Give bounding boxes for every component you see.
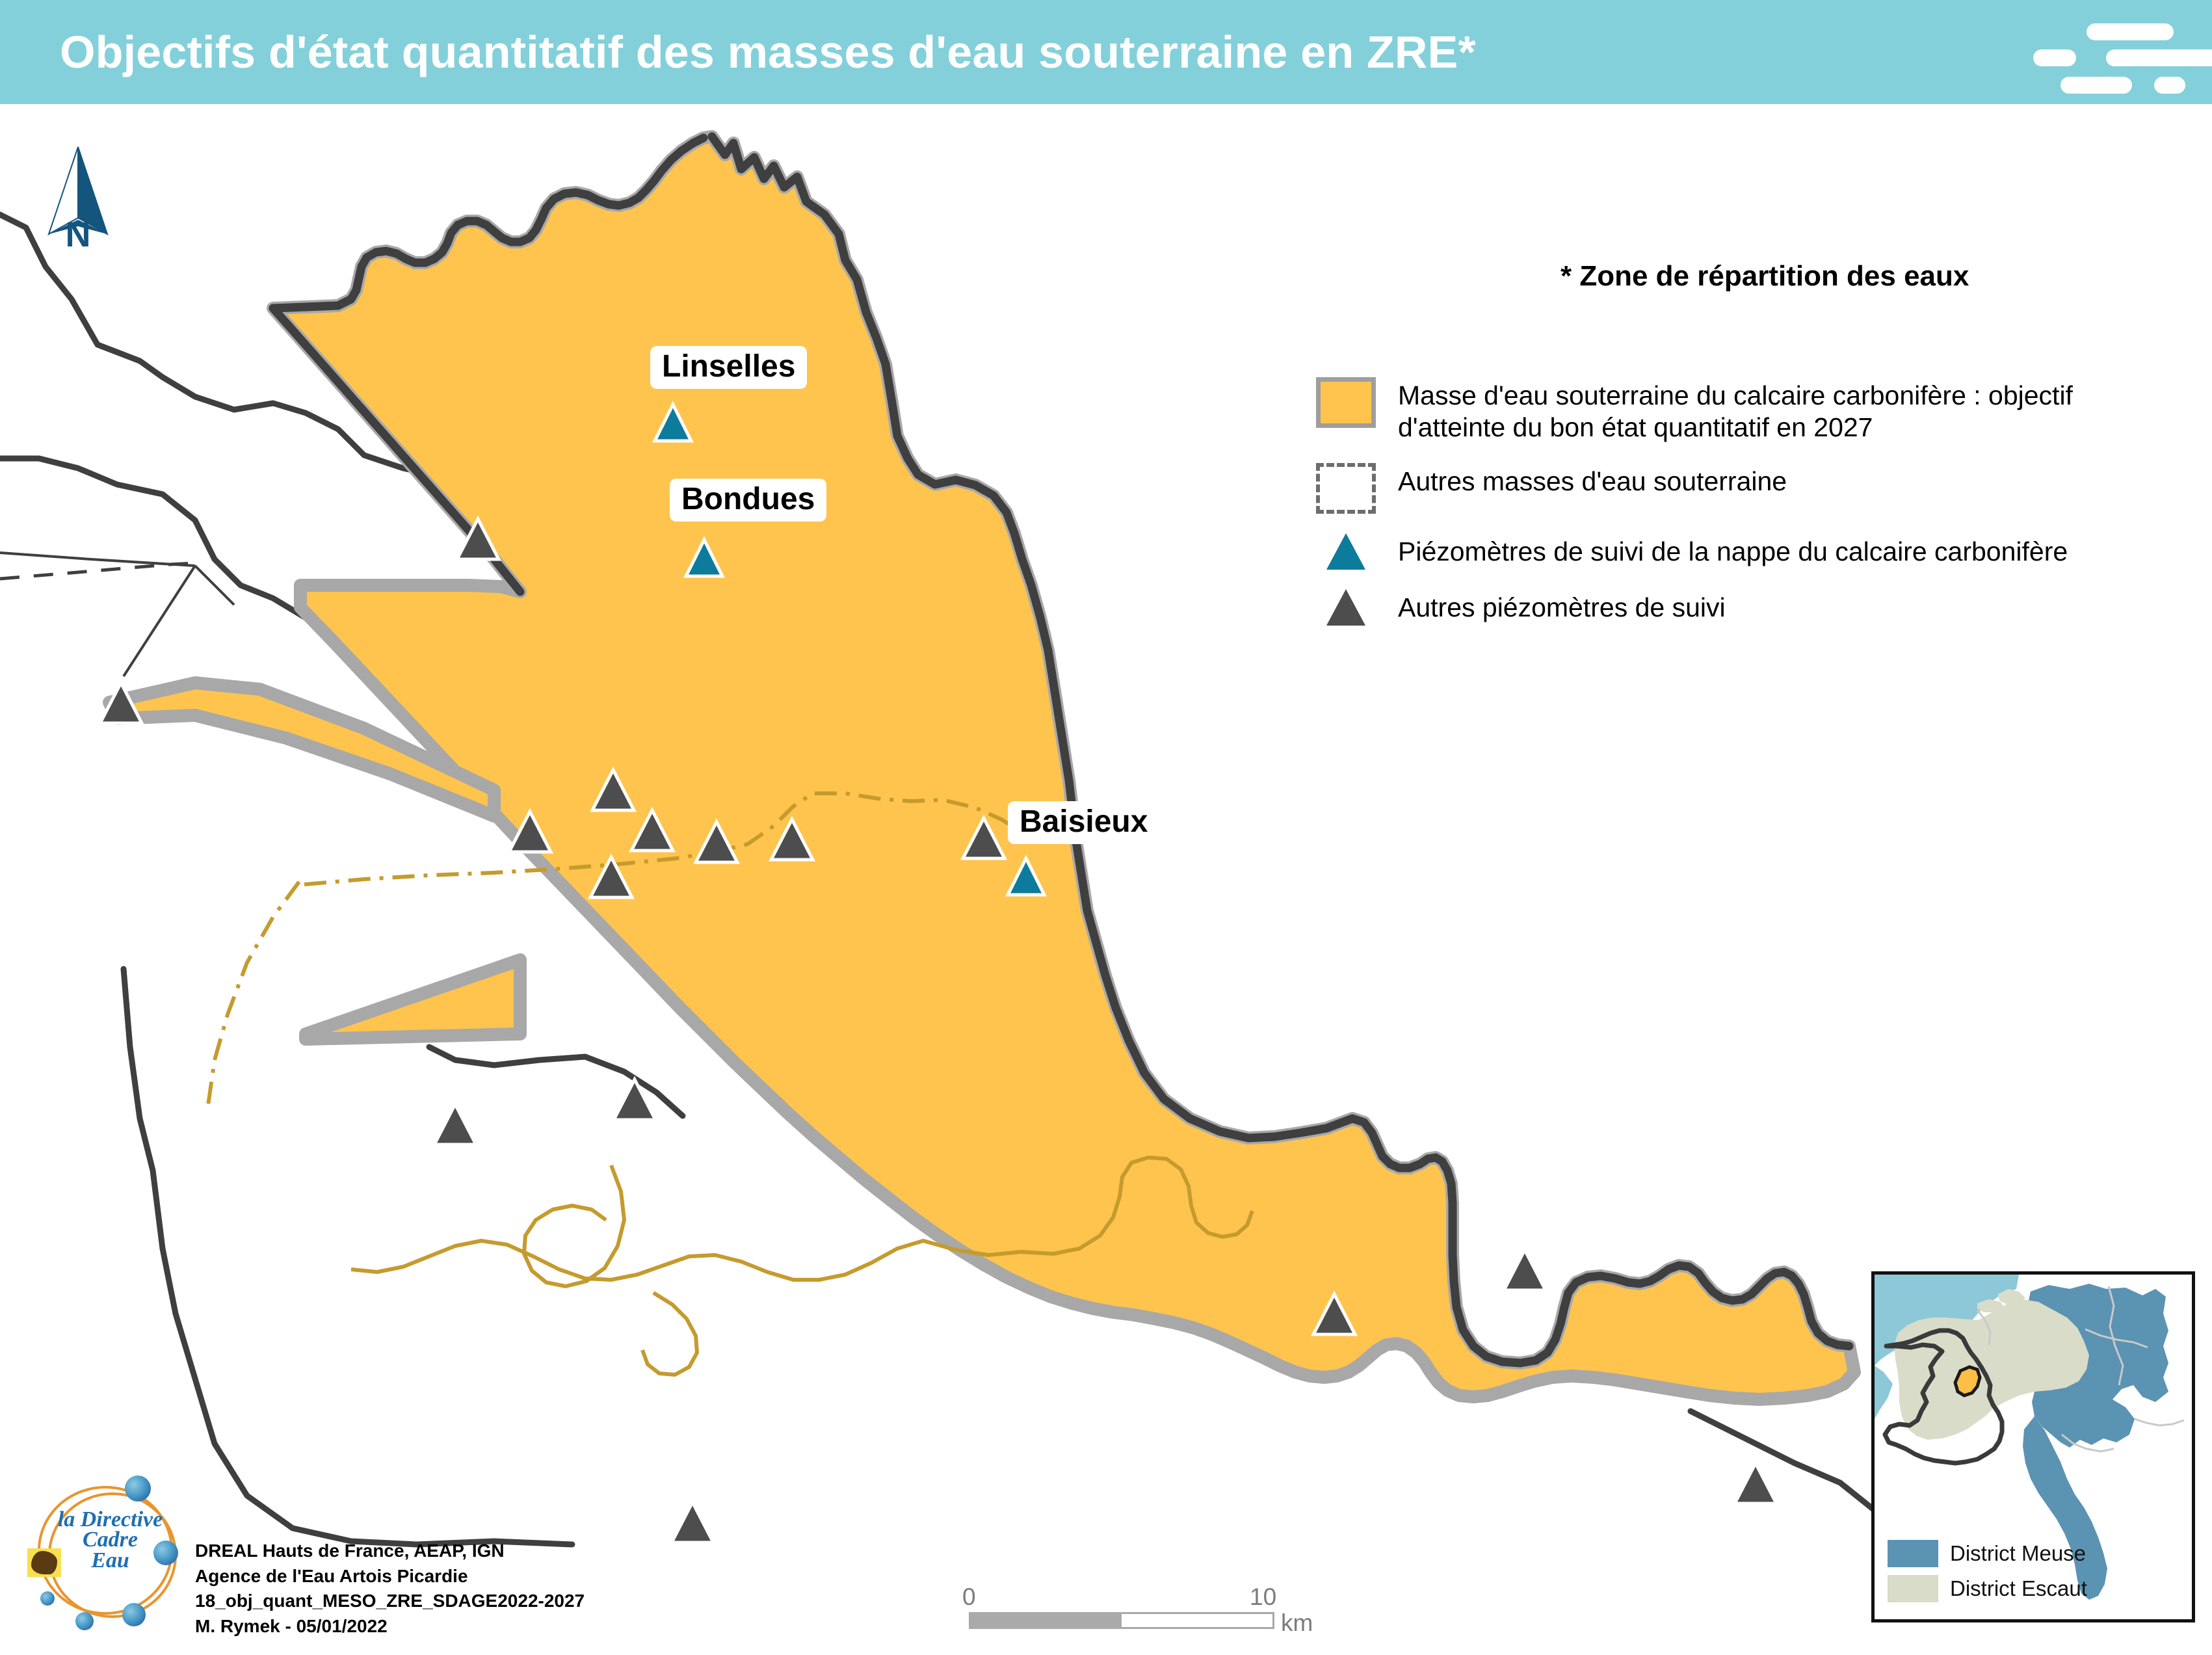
logo-wordmark-line-2: Cadre [40,1529,180,1550]
inset-legend-item-meuse: District Meuse [1888,1540,2087,1567]
piezometer-other[interactable] [1504,1250,1546,1290]
city-label-linselles: Linselles [650,346,807,389]
leader-lines [0,553,234,676]
zre-southwest-wedge [306,960,520,1039]
inset-legend-label: District Meuse [1950,1541,2086,1566]
scale-max-label: 10 [1250,1583,1276,1611]
credits-line-2: Agence de l'Eau Artois Picardie [195,1564,585,1589]
piezometer-other[interactable] [434,1104,476,1145]
blue-triangle-icon [1294,533,1398,570]
city-label-baisieux: Baisieux [1008,801,1159,844]
inset-locator-map[interactable]: District Meuse District Escaut [1871,1271,2195,1622]
inset-sea-lower [1875,1366,1893,1419]
logo-wordmark-line-1: la Directive [40,1509,180,1529]
page-header: Objectifs d'état quantitatif des masses … [0,0,2212,104]
piezometer-other[interactable] [672,1502,713,1542]
inset-legend-item-escaut: District Escaut [1888,1575,2087,1602]
piezometer-other[interactable] [1735,1463,1776,1503]
legend-label: Piézomètres de suivi de la nappe du calc… [1398,533,2068,568]
legend-item-piezometer-other: Autres piézomètres de suivi [1294,589,2074,626]
legend-item-zre-mass: Masse d'eau souterraine du calcaire carb… [1294,377,2074,444]
logo-wordmark: la Directive Cadre Eau [40,1509,180,1570]
credits-line-3: 18_obj_quant_MESO_ZRE_SDAGE2022-2027 [195,1589,585,1614]
legend-label: Autres piézomètres de suivi [1398,589,1726,624]
scale-bar-fill [969,1612,1122,1629]
page-title: Objectifs d'état quantitatif des masses … [60,17,1476,87]
scale-unit-label: km [1281,1609,1313,1637]
legend-item-other-mass: Autres masses d'eau souterraine [1294,463,2074,514]
map-legend: Masse d'eau souterraine du calcaire carb… [1294,377,2074,645]
logo-bubble-icon [125,1476,151,1502]
logo-bubble-icon [122,1603,146,1626]
credits-line-4: M. Rymek - 05/01/2022 [195,1614,585,1639]
other-mass-dashed-line [0,563,195,579]
water-flow-dashes-logo [2033,22,2176,82]
map-canvas[interactable]: N * Zone de répartition des eaux Masse d… [0,104,2212,1554]
zre-footnote: * Zone de répartition des eaux [1560,260,1969,293]
dash-dot-square-swatch-icon [1294,463,1398,514]
legend-item-piezometer-carbonifere: Piézomètres de suivi de la nappe du calc… [1294,533,2074,570]
logo-bubble-icon [75,1612,94,1630]
scale-bar: 0 10 km [969,1583,1307,1655]
directive-cadre-eau-logo: la Directive Cadre Eau [26,1473,189,1626]
logo-wordmark-line-3: Eau [40,1550,180,1570]
orange-square-swatch-icon [1294,377,1398,428]
meuse-color-swatch-icon [1888,1540,1938,1567]
escaut-color-swatch-icon [1888,1575,1938,1602]
city-label-bondues: Bondues [670,479,826,522]
logo-bubble-icon [40,1591,55,1606]
scale-min-label: 0 [962,1583,976,1611]
legend-label: Masse d'eau souterraine du calcaire carb… [1398,377,2074,444]
legend-label: Autres masses d'eau souterraine [1398,463,1787,497]
inset-legend: District Meuse District Escaut [1888,1540,2087,1610]
north-arrow-label: N [39,215,117,255]
inset-legend-label: District Escaut [1950,1576,2087,1601]
credits-line-1: DREAL Hauts de France, AEAP, IGN [195,1539,585,1564]
map-credits: DREAL Hauts de France, AEAP, IGN Agence … [195,1539,585,1639]
grey-triangle-icon [1294,589,1398,626]
